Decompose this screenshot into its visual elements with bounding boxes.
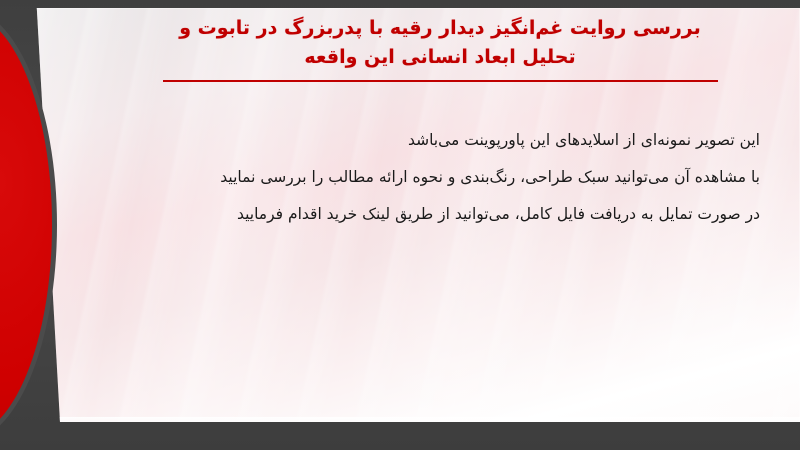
title-line-2: تحلیل ابعاد انسانی این واقعه	[110, 43, 770, 72]
body-line-3: در صورت تمایل به دریافت فایل کامل، می‌تو…	[60, 196, 760, 233]
slide-title: بررسی روایت غم‌انگیز دیدار رقیه با پدربز…	[110, 14, 770, 82]
body-line-1: این تصویر نمونه‌ای از اسلایدهای این پاور…	[60, 122, 760, 159]
title-line-1: بررسی روایت غم‌انگیز دیدار رقیه با پدربز…	[110, 14, 770, 43]
slide-body-text: این تصویر نمونه‌ای از اسلایدهای این پاور…	[60, 122, 760, 233]
presentation-slide: بررسی روایت غم‌انگیز دیدار رقیه با پدربز…	[0, 0, 800, 450]
title-underline-rule	[163, 80, 718, 82]
panel-bottom-edge	[0, 417, 800, 422]
body-line-2: با مشاهده آن می‌توانید سبک طراحی، رنگ‌بن…	[60, 159, 760, 196]
